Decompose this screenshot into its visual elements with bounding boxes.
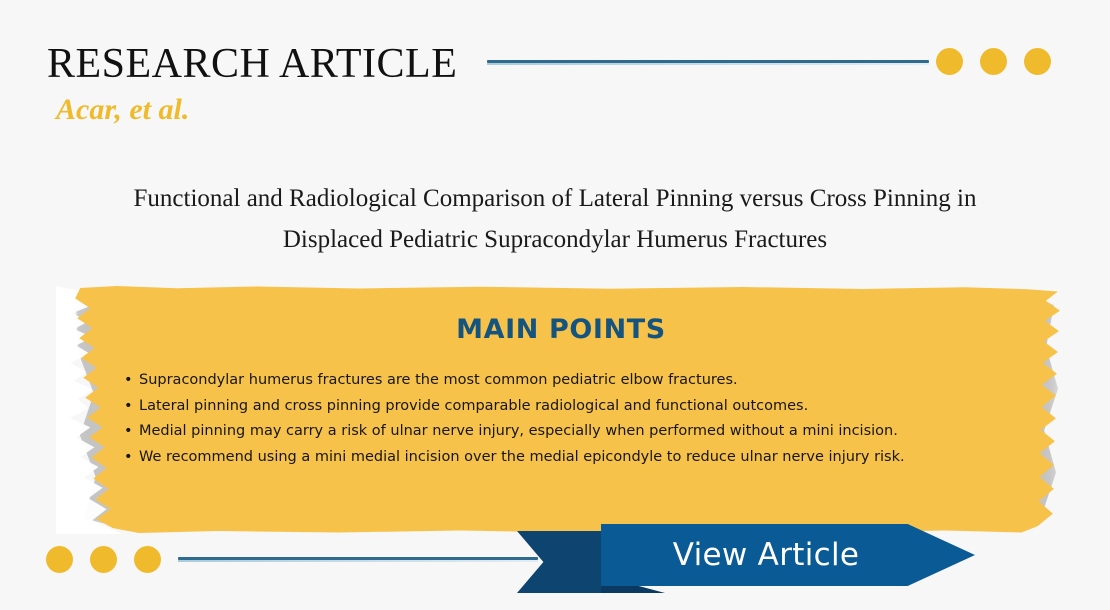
dot-icon bbox=[1024, 48, 1051, 75]
divider-bar-highlight bbox=[487, 63, 929, 65]
dot-icon bbox=[936, 48, 963, 75]
list-item-text: Supracondylar humerus fractures are the … bbox=[139, 372, 738, 388]
dot-icon bbox=[90, 546, 117, 573]
main-points-heading: MAIN POINTS bbox=[56, 314, 1066, 345]
bullet-icon: • bbox=[124, 419, 133, 445]
bullet-icon: • bbox=[124, 394, 133, 420]
authors-label: Acar, et al. bbox=[56, 92, 189, 128]
list-item: • Supracondylar humerus fractures are th… bbox=[124, 368, 1024, 394]
list-item: • Medial pinning may carry a risk of uln… bbox=[124, 419, 1024, 445]
bullet-icon: • bbox=[124, 445, 133, 471]
dot-icon bbox=[134, 546, 161, 573]
main-points-banner: MAIN POINTS • Supracondylar humerus frac… bbox=[56, 286, 1066, 534]
divider-bar-highlight bbox=[178, 560, 538, 562]
view-article-button[interactable]: View Article bbox=[505, 524, 975, 600]
list-item: • We recommend using a mini medial incis… bbox=[124, 445, 1024, 471]
poster-canvas: RESEARCH ARTICLE Acar, et al. Functional… bbox=[0, 0, 1110, 610]
research-article-kicker: RESEARCH ARTICLE bbox=[47, 40, 457, 88]
bullet-icon: • bbox=[124, 368, 133, 394]
main-points-list: • Supracondylar humerus fractures are th… bbox=[124, 368, 1024, 470]
dot-icon bbox=[980, 48, 1007, 75]
list-item-text: Medial pinning may carry a risk of ulnar… bbox=[139, 423, 898, 439]
list-item-text: Lateral pinning and cross pinning provid… bbox=[139, 398, 808, 414]
article-title: Functional and Radiological Comparison o… bbox=[115, 178, 995, 260]
view-article-label: View Article bbox=[601, 524, 931, 586]
list-item: • Lateral pinning and cross pinning prov… bbox=[124, 394, 1024, 420]
footer-divider-line bbox=[178, 557, 538, 562]
dot-icon bbox=[46, 546, 73, 573]
header-divider-line bbox=[487, 60, 929, 65]
decorative-dots-bottom-left bbox=[46, 546, 162, 574]
decorative-dots-top-right bbox=[936, 48, 1052, 76]
list-item-text: We recommend using a mini medial incisio… bbox=[139, 449, 905, 465]
